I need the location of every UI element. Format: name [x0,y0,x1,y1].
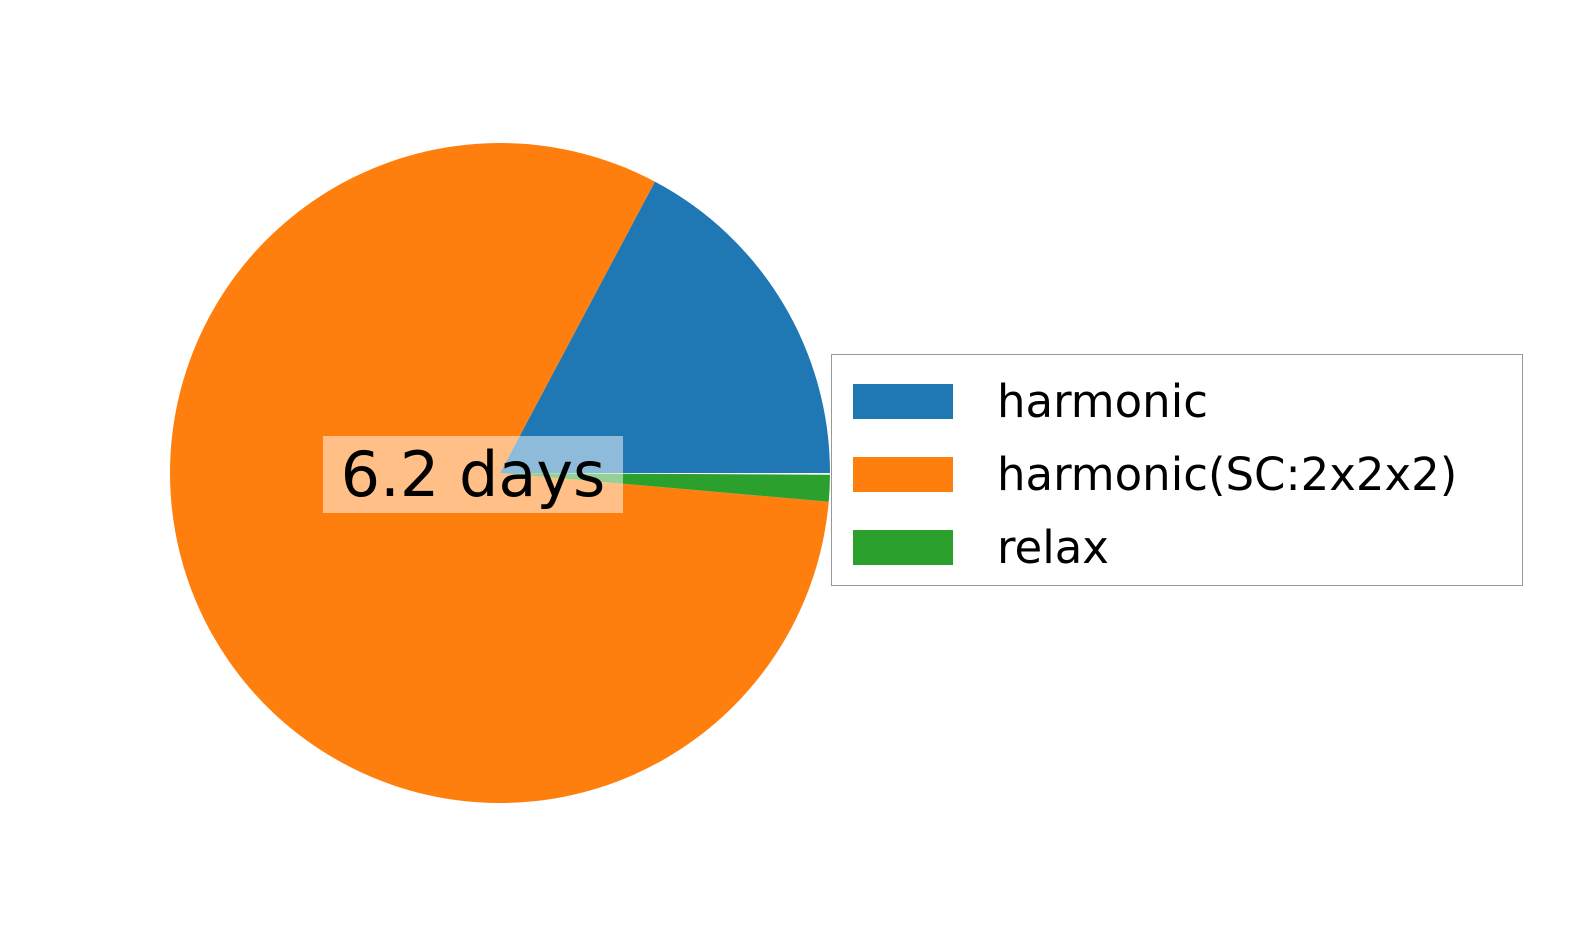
chart-legend: harmonic harmonic(SC:2x2x2) relax [831,354,1523,586]
pie-center-label: 6.2 days [323,436,623,513]
legend-swatch-relax [853,530,953,565]
legend-item-harmonic[interactable]: harmonic [832,370,1208,432]
figure-canvas: 6.2 days harmonic harmonic(SC:2x2x2) rel… [0,0,1585,951]
legend-swatch-harmonic-sc [853,457,953,492]
legend-swatch-harmonic [853,384,953,419]
legend-item-relax[interactable]: relax [832,516,1109,578]
legend-label-relax: relax [997,525,1109,570]
legend-label-harmonic: harmonic [997,379,1208,424]
pie-center-label-text: 6.2 days [341,444,606,506]
legend-item-harmonic-sc[interactable]: harmonic(SC:2x2x2) [832,443,1457,505]
legend-label-harmonic-sc: harmonic(SC:2x2x2) [997,452,1457,497]
